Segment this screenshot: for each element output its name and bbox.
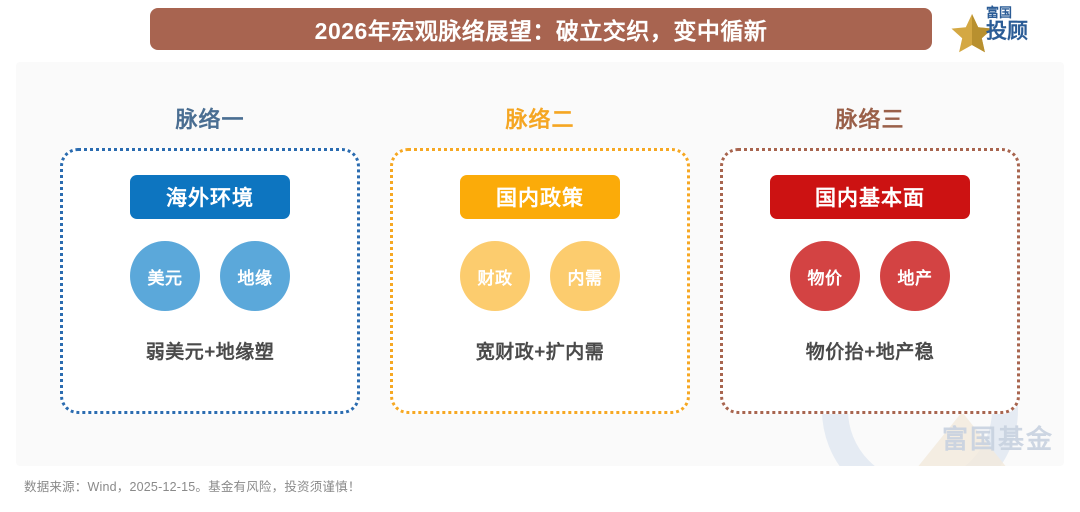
column-mailuo-1: 脉络一 海外环境 美元 地缘 弱美元+地缘塑 bbox=[60, 62, 360, 466]
title-banner: 2026年宏观脉络展望：破立交织，变中循新 bbox=[150, 8, 932, 50]
column-3-circle-1[interactable]: 物价 bbox=[790, 241, 860, 311]
column-3-box: 国内基本面 物价 地产 物价抬+地产稳 bbox=[720, 148, 1020, 414]
column-2-box: 国内政策 财政 内需 宽财政+扩内需 bbox=[390, 148, 690, 414]
column-mailuo-2: 脉络二 国内政策 财政 内需 宽财政+扩内需 bbox=[390, 62, 690, 466]
brand-bottom-text: 投顾 bbox=[986, 21, 1028, 42]
brand-wordmark: 富国 投顾 bbox=[986, 6, 1028, 42]
column-1-circle-row: 美元 地缘 bbox=[130, 241, 290, 311]
slide-root: 2026年宏观脉络展望：破立交织，变中循新 富国 投顾 富国基金 脉络一 海外环 bbox=[0, 0, 1080, 512]
column-1-circle-1[interactable]: 美元 bbox=[130, 241, 200, 311]
column-2-circle-1[interactable]: 财政 bbox=[460, 241, 530, 311]
source-note: 数据来源：Wind，2025-12-15。基金有风险，投资须谨慎！ bbox=[24, 476, 361, 495]
column-1-pill[interactable]: 海外环境 bbox=[130, 175, 290, 219]
column-3-title: 脉络三 bbox=[720, 102, 1020, 134]
column-1-box: 海外环境 美元 地缘 弱美元+地缘塑 bbox=[60, 148, 360, 414]
page-title: 2026年宏观脉络展望：破立交织，变中循新 bbox=[315, 12, 768, 46]
column-1-circle-2[interactable]: 地缘 bbox=[220, 241, 290, 311]
column-2-circle-row: 财政 内需 bbox=[460, 241, 620, 311]
column-3-circle-2[interactable]: 地产 bbox=[880, 241, 950, 311]
columns-container: 脉络一 海外环境 美元 地缘 弱美元+地缘塑 脉络二 国内政策 财政 内需 宽财… bbox=[16, 62, 1064, 466]
header: 2026年宏观脉络展望：破立交织，变中循新 富国 投顾 bbox=[0, 0, 1080, 62]
column-2-circle-2[interactable]: 内需 bbox=[550, 241, 620, 311]
column-1-title: 脉络一 bbox=[60, 102, 360, 134]
column-1-footer: 弱美元+地缘塑 bbox=[146, 337, 275, 364]
column-2-footer: 宽财政+扩内需 bbox=[476, 337, 605, 364]
column-3-footer: 物价抬+地产稳 bbox=[806, 337, 935, 364]
column-mailuo-3: 脉络三 国内基本面 物价 地产 物价抬+地产稳 bbox=[720, 62, 1020, 466]
column-2-title: 脉络二 bbox=[390, 102, 690, 134]
brand-logo: 富国 投顾 bbox=[950, 3, 1068, 55]
column-3-pill[interactable]: 国内基本面 bbox=[770, 175, 970, 219]
brand-top-text: 富国 bbox=[986, 6, 1028, 19]
column-3-circle-row: 物价 地产 bbox=[790, 241, 950, 311]
column-2-pill[interactable]: 国内政策 bbox=[460, 175, 620, 219]
